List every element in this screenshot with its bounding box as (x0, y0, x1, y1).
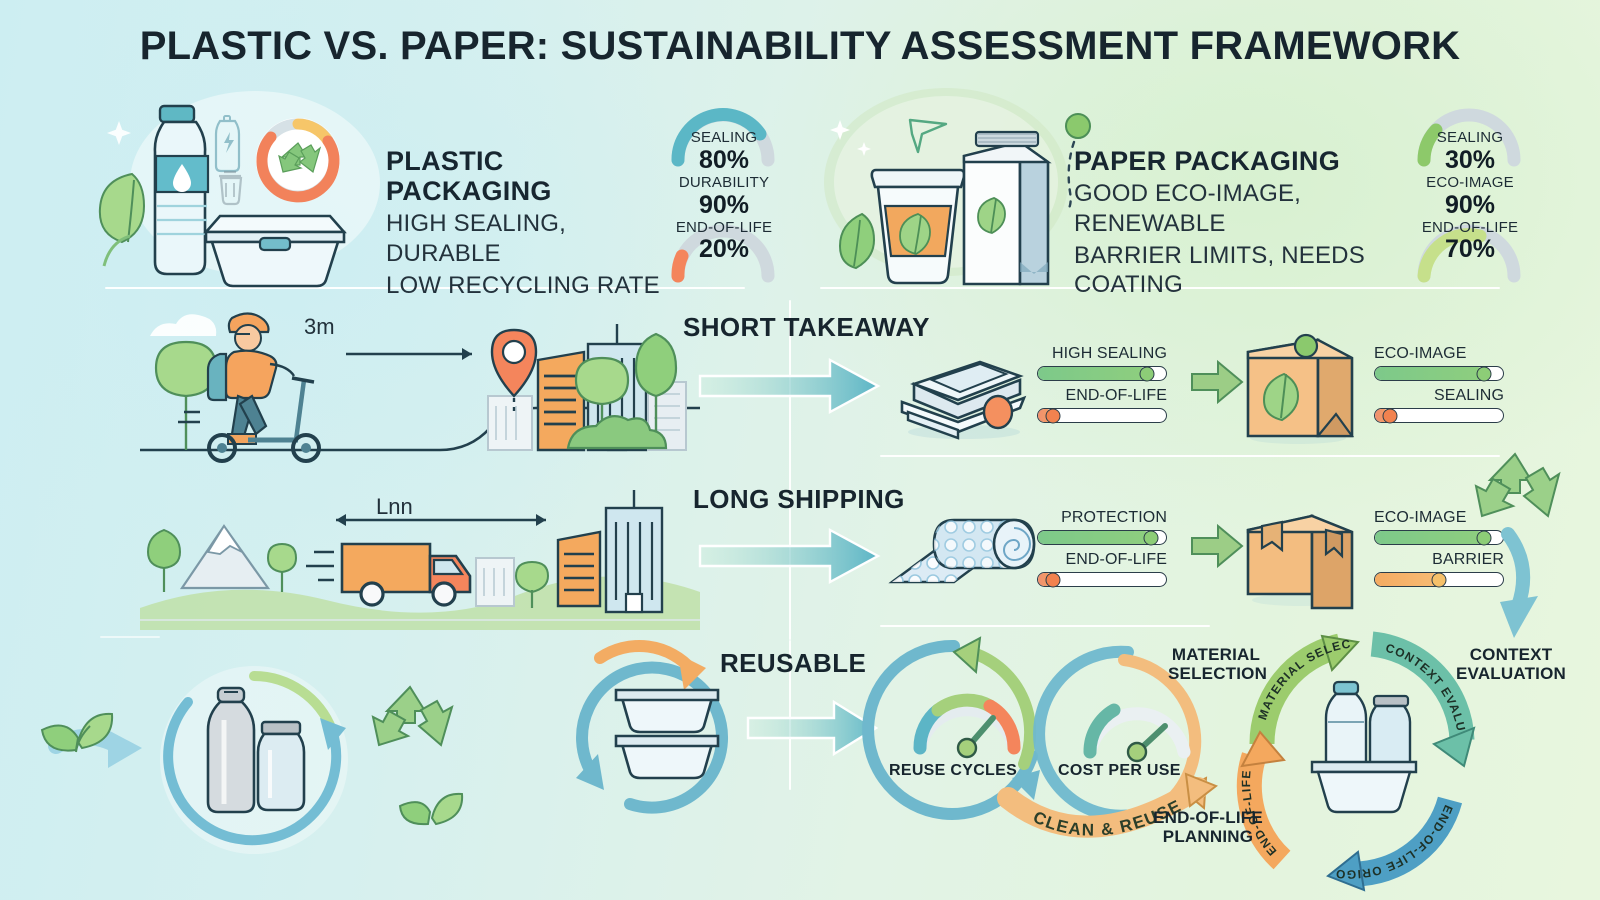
slider-track[interactable] (1037, 530, 1167, 545)
slider-label: PROTECTION (1037, 508, 1167, 528)
paper-sub-line-1: GOOD ECO-IMAGE, RENEWABLE (1074, 179, 1414, 238)
metric-name: END-OF-LIFE (666, 220, 782, 236)
row1-plastic-sliders: HIGH SEALING END-OF-LIFE (1037, 344, 1167, 428)
divider-vertical-upper (789, 300, 791, 640)
slider-track[interactable] (1374, 408, 1504, 423)
coffee-cup-icon (872, 170, 964, 283)
metric-name: DURABILITY (666, 175, 782, 191)
row3-flow-arrow (748, 700, 878, 756)
slider-track[interactable] (1374, 366, 1504, 381)
plastic-sub-line-1: HIGH SEALING, DURABLE (386, 209, 676, 268)
plastic-metrics: SEALING 80% DURABILITY 90% END-OF-LIFE 2… (666, 130, 782, 264)
recycle-symbol-icon (1472, 448, 1558, 528)
bubble-wrap-roll-icon (888, 500, 1036, 604)
milk-carton-icon (964, 132, 1048, 284)
slider-label: ECO-IMAGE (1374, 344, 1504, 364)
reuse-cycles-gauge (920, 700, 1014, 757)
metric-value: 30% (1412, 146, 1528, 174)
cycle-label-end-of-life-planning: END-OF-LIFEPLANNING (1148, 808, 1268, 846)
plastic-headline-block: PLASTIC PACKAGING HIGH SEALING, DURABLE … (386, 146, 676, 300)
stacked-containers-icon (616, 690, 718, 778)
reusable-bottles-loop (150, 660, 360, 860)
leaf-sprout-icon (392, 770, 472, 840)
slider-track[interactable] (1037, 366, 1167, 381)
trees-icon (564, 330, 700, 450)
paper-sub-line-2: BARRIER LIMITS, NEEDS COATING (1074, 241, 1414, 300)
slider-label: END-OF-LIFE (1037, 550, 1167, 570)
row-label-short-takeaway: SHORT TAKEAWAY (683, 312, 930, 343)
row-label-long-shipping: LONG SHIPPING (693, 484, 905, 515)
paper-heading: PAPER PACKAGING (1074, 146, 1414, 176)
infographic-canvas: PLASTIC VS. PAPER: SUSTAINABILITY ASSESS… (0, 0, 1600, 900)
recycle-donut-icon (256, 118, 340, 202)
plastic-heading: PLASTIC PACKAGING (386, 146, 676, 206)
plastic-container-icon (206, 216, 344, 286)
plastic-illustration (120, 88, 390, 288)
long-distance-label: Lnn (376, 494, 413, 520)
slider-label: SEALING (1374, 386, 1504, 406)
metric-value: 80% (666, 146, 782, 174)
short-distance-label: 3m (304, 314, 335, 340)
cycle-label-material-selection: MATERIALSELECTION (1168, 645, 1264, 683)
paper-illustration (818, 86, 1078, 288)
sparkle-icon (104, 118, 134, 148)
glass-jar-icon (258, 722, 304, 810)
divider-mid-right (880, 455, 1500, 457)
metric-value: 70% (1412, 235, 1528, 263)
divider-low-left (100, 636, 160, 638)
row2-flow-arrow (700, 528, 880, 584)
foam-clamshell-icon (888, 350, 1033, 440)
recycle-symbol-icon (370, 682, 450, 756)
metric-name: END-OF-LIFE (1412, 220, 1528, 236)
paper-headline-block: PAPER PACKAGING GOOD ECO-IMAGE, RENEWABL… (1074, 146, 1414, 299)
bottle-jar-container-group-icon (1312, 682, 1416, 812)
metric-value: 90% (666, 191, 782, 219)
page-title: PLASTIC VS. PAPER: SUSTAINABILITY ASSESS… (0, 24, 1600, 69)
slider-track[interactable] (1037, 408, 1167, 423)
row2-small-arrow (1190, 524, 1244, 568)
stacked-containers-loop (560, 640, 760, 830)
cost-per-use-gauge (1090, 710, 1184, 761)
leaf-icon (88, 160, 158, 270)
slider-label: END-OF-LIFE (1037, 386, 1167, 406)
paper-bag-icon (1236, 330, 1364, 444)
divider-low-right (880, 625, 1210, 627)
truck-shipping-scene (140, 480, 700, 630)
slider-track[interactable] (1037, 572, 1167, 587)
delivery-truck-icon (306, 544, 470, 605)
metal-bottle-icon (208, 688, 254, 812)
row1-flow-arrow (700, 358, 880, 414)
metric-name: ECO-IMAGE (1412, 175, 1528, 191)
water-bottle-icon (155, 106, 208, 274)
cycle-label-context-evaluation: CONTEXTEVALUATION (1456, 645, 1566, 683)
paper-metrics: SEALING 30% ECO-IMAGE 90% END-OF-LIFE 70… (1412, 130, 1528, 264)
metric-value: 20% (666, 235, 782, 263)
metric-value: 90% (1412, 191, 1528, 219)
city-buildings-icon (476, 490, 662, 612)
leaf-sprout-icon (30, 690, 122, 770)
map-pin-icon (484, 326, 544, 412)
cardboard-box-icon (1238, 500, 1364, 606)
row2-plastic-sliders: PROTECTION END-OF-LIFE (1037, 508, 1167, 592)
row1-paper-sliders: ECO-IMAGE SEALING (1374, 344, 1504, 428)
metric-name: SEALING (666, 130, 782, 146)
metric-name: SEALING (1412, 130, 1528, 146)
plastic-sub-line-2: LOW RECYCLING RATE (386, 271, 676, 300)
slider-label: HIGH SEALING (1037, 344, 1167, 364)
